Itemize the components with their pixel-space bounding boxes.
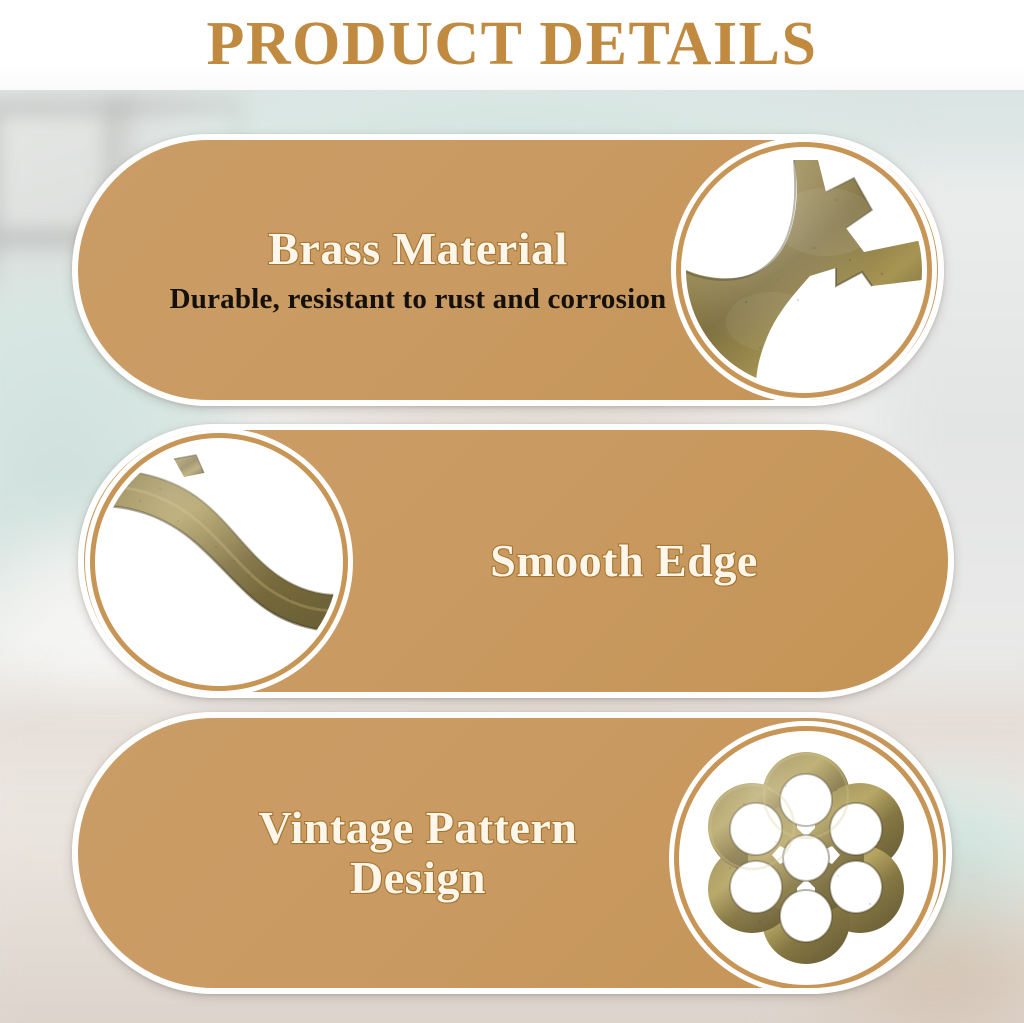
feature-text-block: Smooth Edge xyxy=(334,430,914,692)
feature-text-block: Brass Material Durable, resistant to rus… xyxy=(118,140,718,400)
feature-card-smooth-edge[interactable]: Smooth Edge xyxy=(78,424,954,698)
brass-flower-rosette-photo xyxy=(684,736,928,980)
brass-rosette-illustration xyxy=(684,736,928,980)
feature-title: Vintage Pattern Design xyxy=(259,803,578,902)
brass-hardware-illustration xyxy=(686,152,922,388)
feature-title: Brass Material xyxy=(268,224,568,274)
feature-card-brass-material[interactable]: Brass Material Durable, resistant to rus… xyxy=(72,134,944,406)
header-bar: PRODUCT DETAILS xyxy=(0,0,1024,90)
brass-hardware-closeup-photo xyxy=(686,152,922,388)
page-title: PRODUCT DETAILS xyxy=(0,6,1024,82)
brass-smooth-edge-closeup-photo xyxy=(100,443,338,681)
brass-edge-illustration xyxy=(100,443,338,681)
feature-text-block: Vintage Pattern Design xyxy=(118,718,718,988)
feature-card-vintage-pattern-design[interactable]: Vintage Pattern Design xyxy=(72,712,952,994)
feature-subtitle: Durable, resistant to rust and corrosion xyxy=(170,283,667,316)
feature-title: Smooth Edge xyxy=(490,536,757,586)
product-details-infographic: PRODUCT DETAILS Brass Material Durable, … xyxy=(0,0,1024,1023)
